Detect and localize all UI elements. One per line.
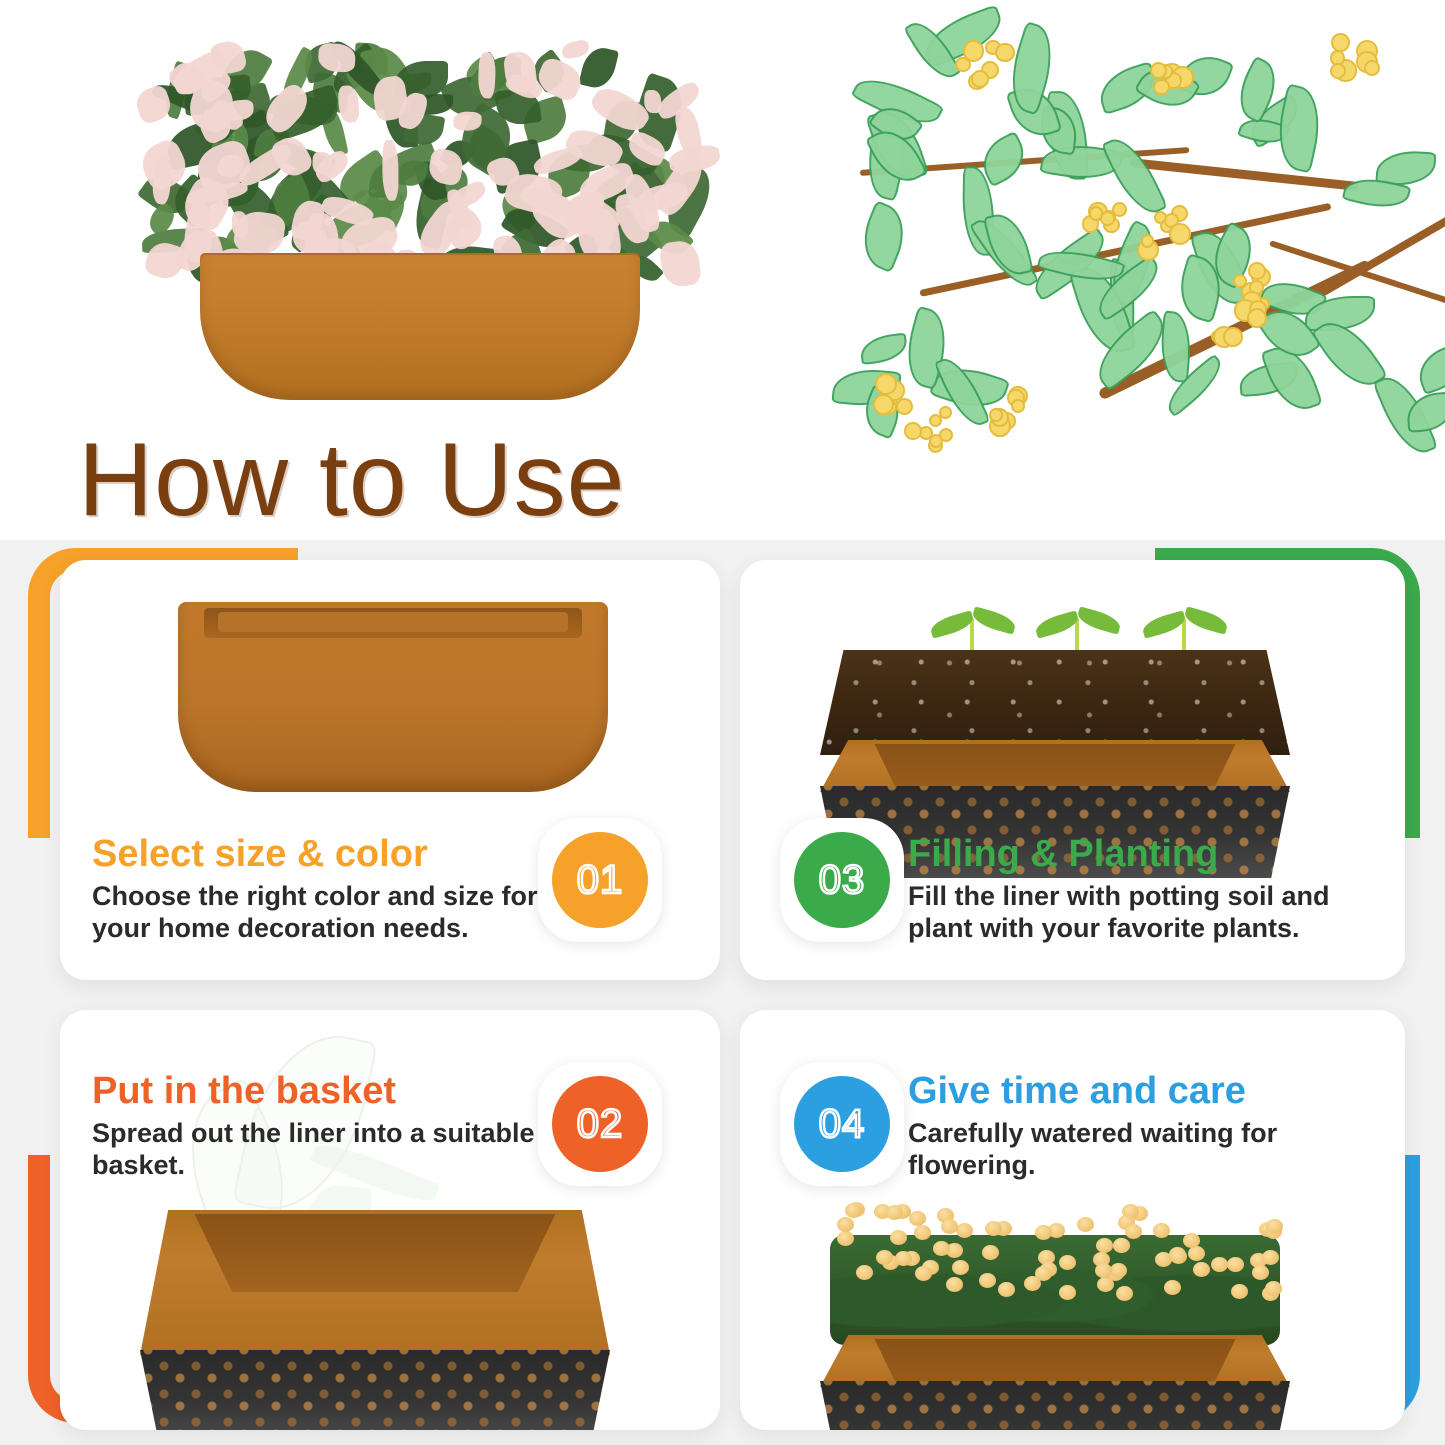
badge-number-04: 04 xyxy=(819,1102,866,1147)
rose-bloom xyxy=(915,1266,932,1281)
rose-bloom xyxy=(895,1251,912,1266)
step-card-02[interactable]: Put in the basket Spread out the liner i… xyxy=(60,1010,720,1430)
step-badge-02[interactable]: 02 xyxy=(538,1062,662,1186)
badge-circle-04: 04 xyxy=(794,1076,890,1172)
rose-bloom xyxy=(1193,1262,1210,1277)
rose-bloom xyxy=(933,1241,950,1256)
osmanthus-flower xyxy=(1364,60,1380,76)
osmanthus-flower xyxy=(875,373,897,395)
rose-bloom xyxy=(985,1221,1002,1236)
hero-section: How to Use xyxy=(0,0,1445,540)
badge-circle-03: 03 xyxy=(794,832,890,928)
step-description-03: Fill the liner with potting soil and pla… xyxy=(908,881,1398,945)
rose-bloom xyxy=(876,1250,893,1265)
hero-blossom xyxy=(382,140,398,201)
metal-basket-04 xyxy=(820,1381,1290,1430)
seedling-leaf-3a xyxy=(1141,610,1188,638)
step-title-03: Filling & Planting xyxy=(908,835,1398,875)
step-description-04: Carefully watered waiting for flowering. xyxy=(908,1118,1398,1182)
liner-band xyxy=(820,740,1290,792)
seedling-leaf-1b xyxy=(971,606,1018,634)
step-badge-03[interactable]: 03 xyxy=(780,818,904,942)
rose-bloom xyxy=(845,1203,862,1218)
step-description-02: Spread out the liner into a suitable bas… xyxy=(92,1118,562,1182)
step-title-01: Select size & color xyxy=(92,835,562,875)
branch-twig xyxy=(1318,211,1445,298)
rose-bloom xyxy=(946,1277,963,1292)
rose-bloom xyxy=(1077,1217,1094,1232)
branch-twig xyxy=(1130,158,1360,191)
rose-bloom xyxy=(956,1223,973,1238)
infographic-root: How to Use Select size & color Choose th… xyxy=(0,0,1445,1445)
step-card-04-text: Give time and care Carefully watered wai… xyxy=(908,1072,1398,1182)
rose-bloom xyxy=(1095,1263,1112,1278)
rose-bloom xyxy=(979,1273,996,1288)
step-title-04: Give time and care xyxy=(908,1072,1398,1112)
rose-bloom xyxy=(952,1260,969,1275)
osmanthus-flower xyxy=(1169,223,1191,245)
osmanthus-flower xyxy=(1331,33,1350,52)
badge-number-01: 01 xyxy=(577,858,624,903)
step-card-04[interactable]: 04 Give time and care Carefully watered … xyxy=(740,1010,1405,1430)
osmanthus-branch-illustration xyxy=(800,0,1445,440)
branch-leaf xyxy=(858,332,908,365)
seedling-leaf-3b xyxy=(1183,606,1230,634)
rose-bush xyxy=(820,1195,1290,1345)
osmanthus-flower xyxy=(971,70,990,89)
branch-leaf xyxy=(982,209,1033,280)
step-description-01: Choose the right color and size for your… xyxy=(92,881,562,945)
seedling-leaf-1a xyxy=(929,610,976,638)
liner-band-04 xyxy=(820,1335,1290,1387)
hero-blossom xyxy=(659,239,702,289)
rose-bloom xyxy=(1262,1250,1279,1265)
step-card-03[interactable]: 03 Filling & Planting Fill the liner wit… xyxy=(740,560,1405,980)
rose-bloom xyxy=(837,1217,854,1232)
rose-bloom xyxy=(982,1245,999,1260)
branch-leaf xyxy=(1158,311,1193,383)
rose-bloom xyxy=(1188,1246,1205,1261)
osmanthus-flower xyxy=(1150,62,1167,79)
rose-bloom xyxy=(1183,1233,1200,1248)
osmanthus-flower xyxy=(896,398,913,415)
rose-bloom xyxy=(1116,1286,1133,1301)
osmanthus-flower xyxy=(995,43,1014,62)
osmanthus-flower xyxy=(989,408,1003,422)
hero-blossom xyxy=(477,52,496,99)
planter-body xyxy=(200,255,640,400)
rose-bloom xyxy=(1164,1280,1181,1295)
step-badge-04[interactable]: 04 xyxy=(780,1062,904,1186)
step-badge-01[interactable]: 01 xyxy=(538,818,662,942)
osmanthus-flower xyxy=(963,40,985,62)
rose-bloom xyxy=(1252,1265,1269,1280)
osmanthus-flower xyxy=(929,414,942,427)
branch-leaf xyxy=(1412,343,1445,395)
basket-mesh-texture-04 xyxy=(820,1381,1290,1430)
badge-number-03: 03 xyxy=(819,858,866,903)
rose-bloom xyxy=(1211,1257,1228,1272)
step-card-03-text: Filling & Planting Fill the liner with p… xyxy=(908,835,1398,945)
seedling-leaf-2a xyxy=(1034,610,1081,638)
osmanthus-flower xyxy=(1223,327,1243,347)
rose-bloom xyxy=(1231,1284,1248,1299)
hero-blossom xyxy=(644,90,661,114)
rose-bloom xyxy=(998,1282,1015,1297)
osmanthus-flower xyxy=(1011,399,1025,413)
liner-inner-base xyxy=(218,612,568,632)
branch-leaf xyxy=(854,200,916,273)
step-card-01[interactable]: Select size & color Choose the right col… xyxy=(60,560,720,980)
potting-soil xyxy=(820,650,1290,755)
rose-bloom xyxy=(941,1219,958,1234)
step-card-02-text: Put in the basket Spread out the liner i… xyxy=(92,1072,562,1182)
hero-planter-photo xyxy=(95,0,735,420)
seedling-leaf-2b xyxy=(1076,606,1123,634)
rose-bloom xyxy=(909,1211,926,1226)
rose-bloom xyxy=(856,1265,873,1280)
badge-circle-02: 02 xyxy=(552,1076,648,1172)
step-card-01-text: Select size & color Choose the right col… xyxy=(92,835,562,945)
page-title: How to Use xyxy=(78,428,626,532)
rose-bloom xyxy=(1170,1249,1187,1264)
step-title-02: Put in the basket xyxy=(92,1072,562,1112)
badge-number-02: 02 xyxy=(577,1102,624,1147)
osmanthus-flower xyxy=(904,422,922,440)
rose-bloom xyxy=(1035,1266,1052,1281)
osmanthus-flower xyxy=(1100,211,1115,226)
metal-basket-02 xyxy=(140,1350,610,1430)
badge-circle-01: 01 xyxy=(552,832,648,928)
osmanthus-flower xyxy=(1141,234,1155,248)
liner-spread-in-basket xyxy=(140,1210,610,1355)
basket-mesh-texture-02 xyxy=(140,1350,610,1430)
branch-leaf xyxy=(1271,83,1328,172)
